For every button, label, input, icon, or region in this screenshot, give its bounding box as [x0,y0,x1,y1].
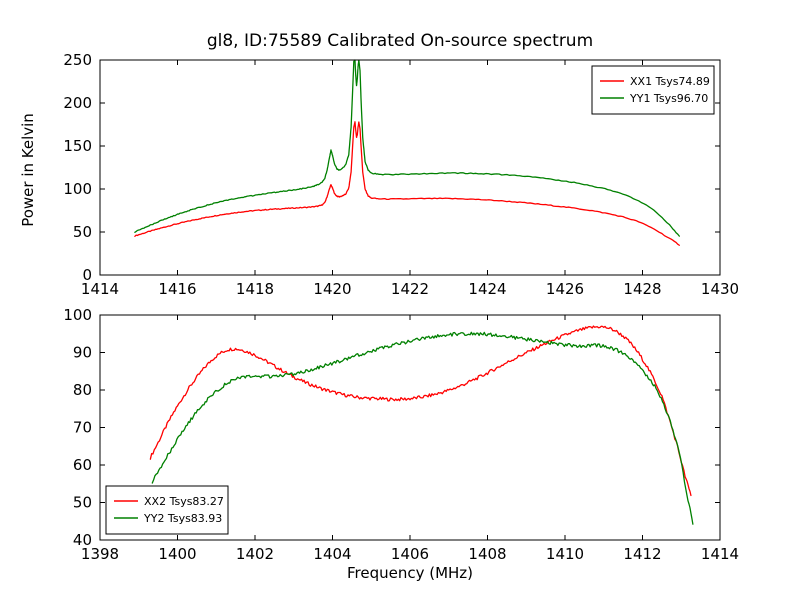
x-tick-label: 1424 [468,280,506,298]
x-tick-label: 1412 [623,545,661,563]
y-tick-label: 100 [63,180,92,198]
y-tick-label: 100 [63,306,92,324]
x-tick-label: 1410 [546,545,584,563]
bottom-panel: 1398140014021404140614081410141214144050… [63,306,739,563]
x-axis-label: Frequency (MHz) [347,564,473,582]
y-axis-label: Power in Kelvin [19,113,37,227]
y-tick-label: 70 [73,419,92,437]
legend-box [106,486,228,534]
y-tick-label: 90 [73,344,92,362]
y-tick-label: 150 [63,137,92,155]
y-tick-label: 0 [82,266,92,284]
x-tick-label: 1408 [468,545,506,563]
x-tick-label: 1430 [701,280,739,298]
x-tick-label: 1400 [158,545,196,563]
x-tick-label: 1414 [701,545,739,563]
x-tick-label: 1426 [546,280,584,298]
x-tick-label: 1420 [313,280,351,298]
figure-canvas: gl8, ID:75589 Calibrated On-source spect… [0,0,800,600]
x-tick-label: 1402 [236,545,274,563]
x-tick-label: 1416 [158,280,196,298]
y-tick-label: 40 [73,531,92,549]
y-tick-label: 250 [63,51,92,69]
series-line-yy2 [152,332,693,524]
legend-label: XX1 Tsys74.89 [630,75,710,88]
legend-label: XX2 Tsys83.27 [144,495,224,508]
series-line-xx1 [135,122,679,245]
y-tick-label: 200 [63,94,92,112]
top-panel: 1414141614181420142214241426142814300501… [63,51,739,298]
y-tick-label: 80 [73,381,92,399]
y-tick-label: 60 [73,456,92,474]
x-tick-label: 1404 [313,545,351,563]
bottom-panel-legend[interactable]: XX2 Tsys83.27YY2 Tsys83.93 [106,486,228,534]
legend-box [592,66,714,114]
series-line-xx2 [150,326,691,495]
legend-label: YY2 Tsys83.93 [143,512,222,525]
y-tick-label: 50 [73,494,92,512]
page-title: gl8, ID:75589 Calibrated On-source spect… [207,31,593,51]
y-tick-label: 50 [73,223,92,241]
x-tick-label: 1406 [391,545,429,563]
x-tick-label: 1428 [623,280,661,298]
x-tick-label: 1422 [391,280,429,298]
top-panel-legend[interactable]: XX1 Tsys74.89YY1 Tsys96.70 [592,66,714,114]
spectrum-plot: gl8, ID:75589 Calibrated On-source spect… [0,0,800,600]
bottom-panel-series [150,326,693,524]
legend-label: YY1 Tsys96.70 [629,92,708,105]
x-tick-label: 1418 [236,280,274,298]
